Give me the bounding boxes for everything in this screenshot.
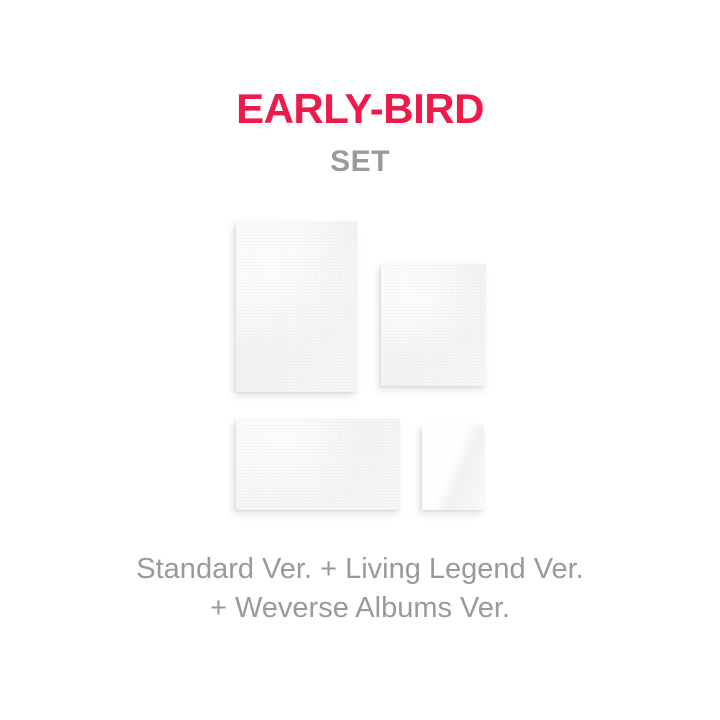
page-title: EARLY-BIRD [0,84,720,134]
early-bird-set-promo-card: EARLY-BIRD SET Standard Ver. + Living Le… [0,0,720,720]
product-image-standard-ver [236,221,357,392]
caption-line-1: Standard Ver. + Living Legend Ver. [0,550,720,589]
product-image-weverse-albums-ver [422,425,484,510]
heading-block: EARLY-BIRD SET [0,84,720,182]
product-image-photobook [236,419,400,510]
product-image-living-legend-ver [381,264,486,386]
caption-block: Standard Ver. + Living Legend Ver. + Wev… [0,550,720,628]
page-subtitle: SET [0,142,720,182]
caption-line-2: + Weverse Albums Ver. [0,589,720,628]
